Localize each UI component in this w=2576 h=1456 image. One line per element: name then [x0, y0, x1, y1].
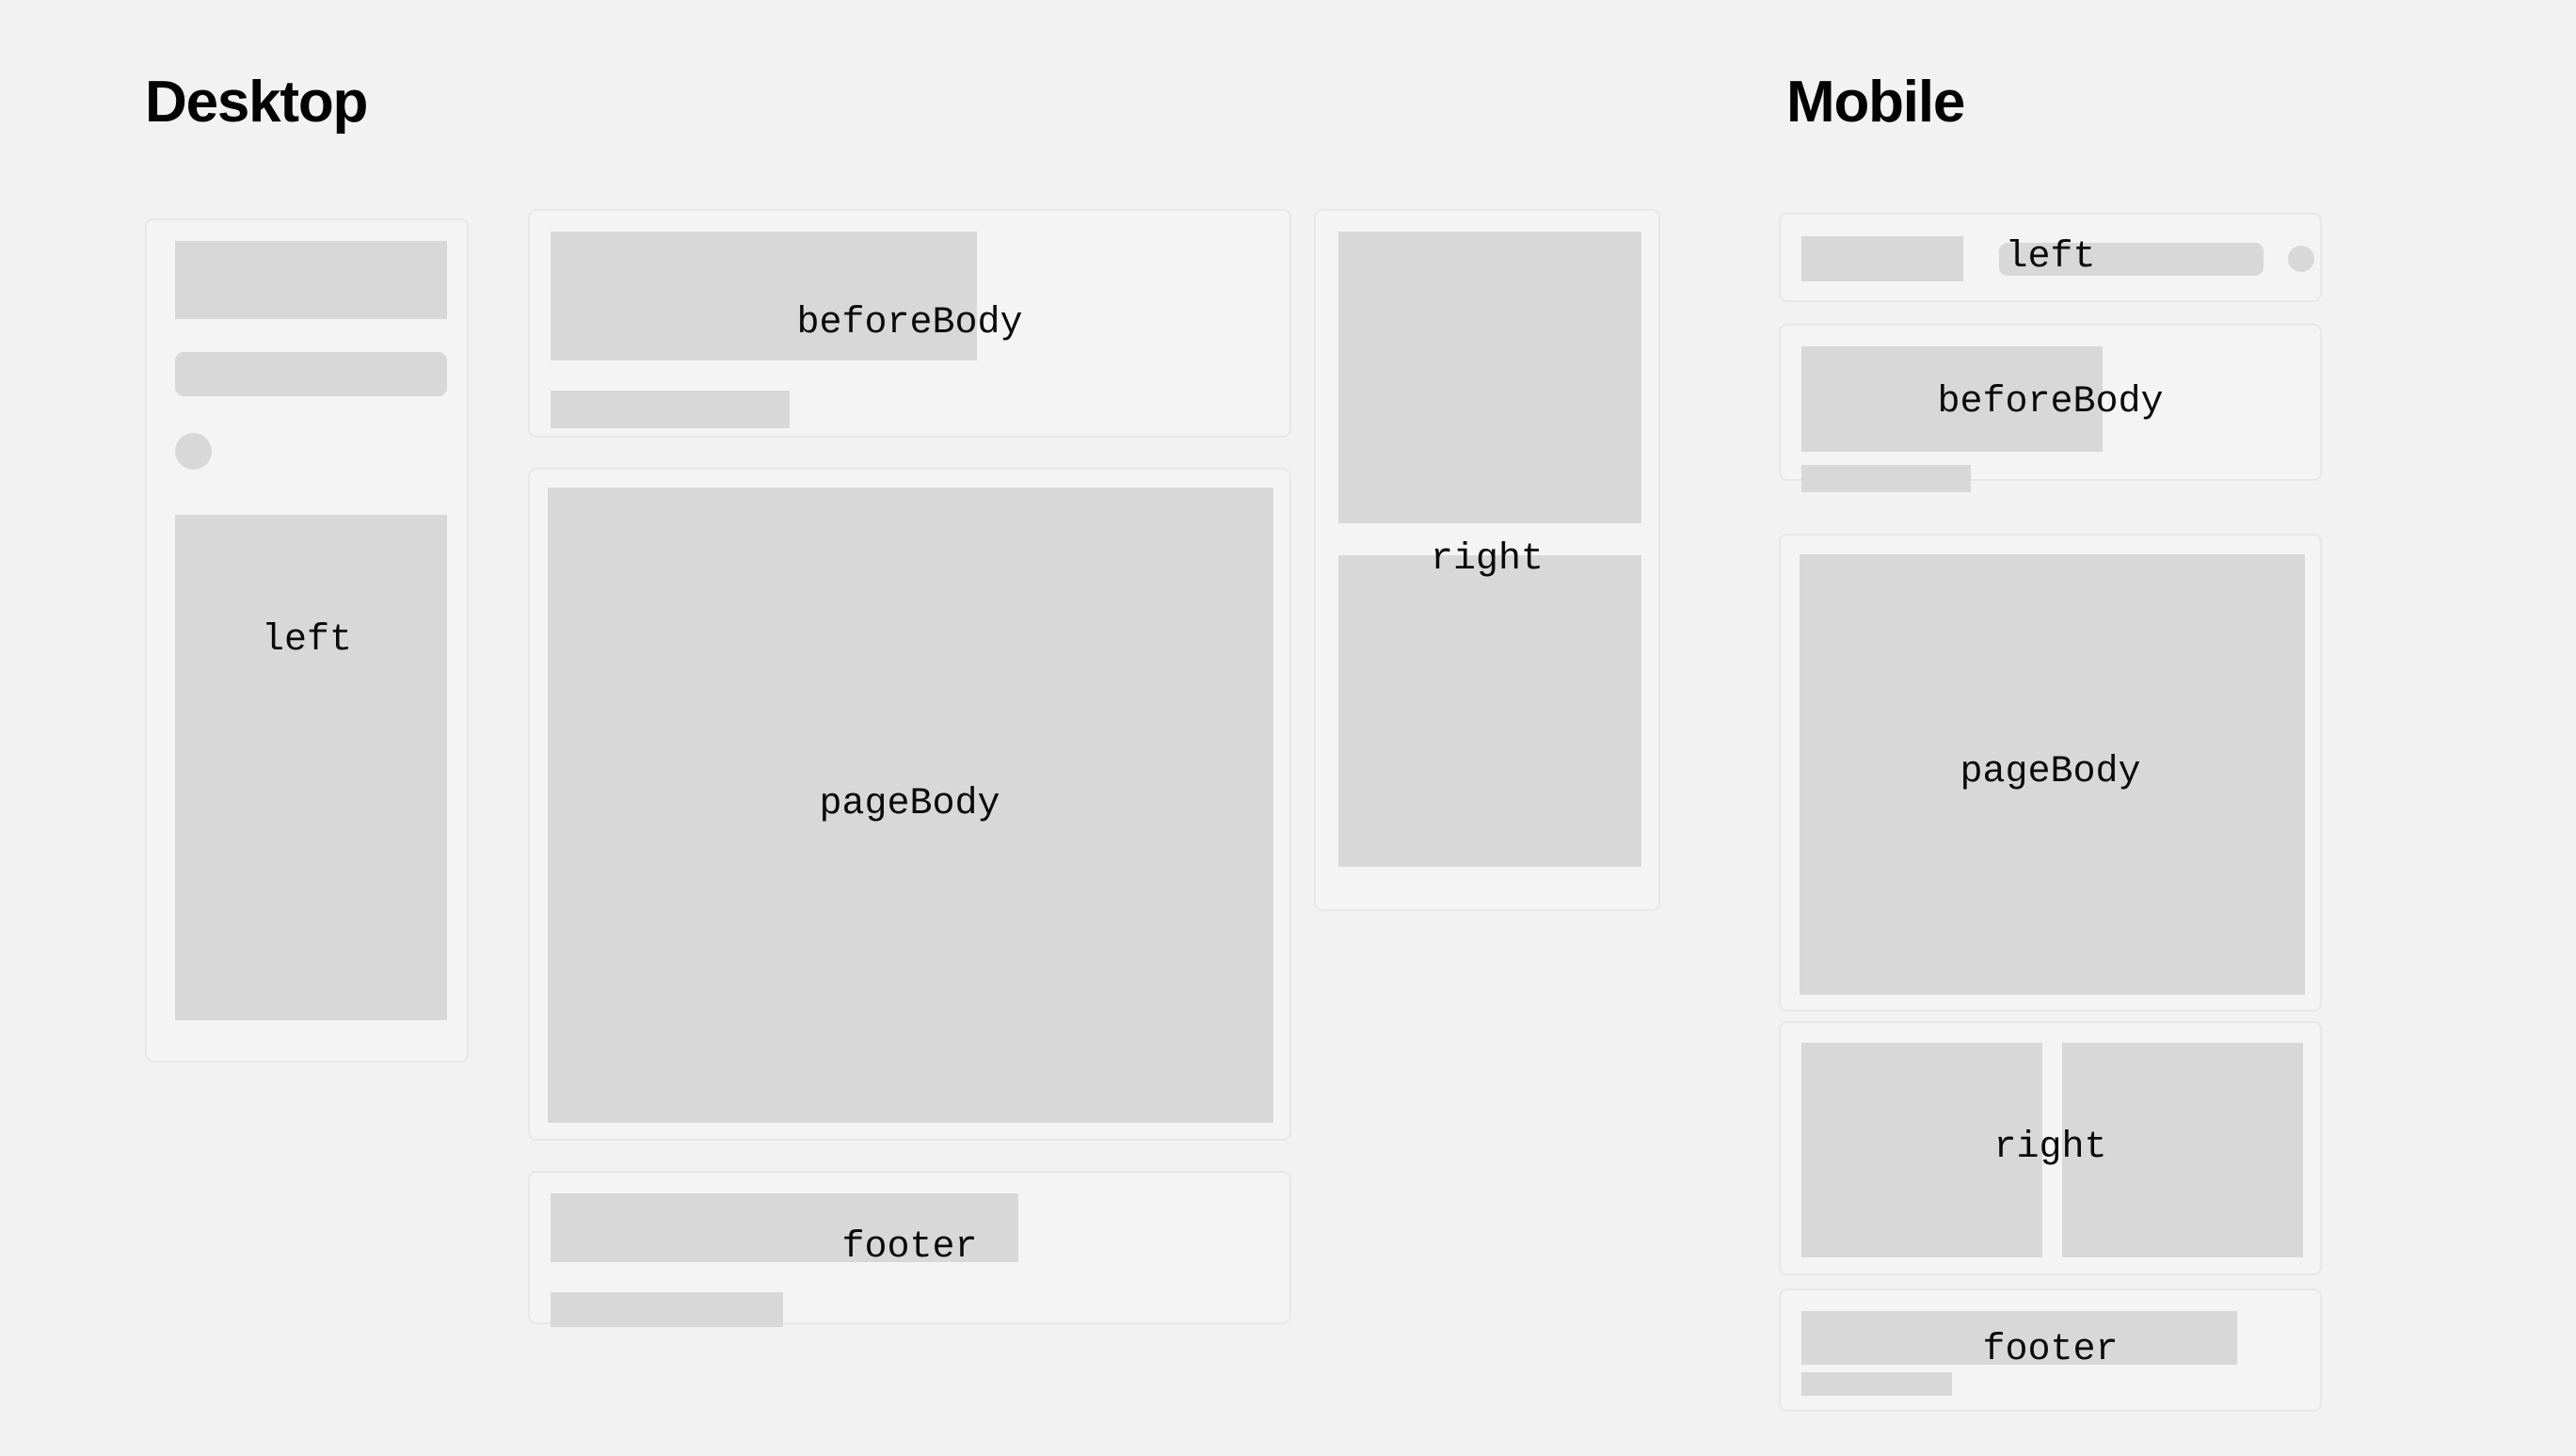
- skeleton-dot-block: [175, 433, 212, 470]
- skeleton-top-block: [1338, 232, 1641, 523]
- mobile-right-slot-panel[interactable]: [1779, 1021, 2322, 1275]
- skeleton-hero-block: [551, 232, 977, 360]
- skeleton-hero-block: [175, 241, 447, 319]
- mobile-pagebody-slot-panel[interactable]: [1779, 534, 2322, 1012]
- mobile-left-slot-panel[interactable]: [1779, 213, 2322, 302]
- skeleton-bar-block: [1801, 465, 1971, 492]
- desktop-left-slot-panel[interactable]: [145, 218, 469, 1063]
- desktop-right-slot-panel[interactable]: [1314, 209, 1660, 911]
- mobile-section-heading: Mobile: [1786, 73, 1964, 132]
- skeleton-bar-block: [1801, 1372, 1952, 1396]
- skeleton-main-block: [548, 488, 1273, 1123]
- skeleton-hero-block: [1801, 346, 2103, 452]
- skeleton-hero-block: [551, 1193, 1018, 1262]
- mobile-beforebody-slot-panel[interactable]: [1779, 324, 2322, 481]
- skeleton-bar-block: [175, 352, 447, 396]
- layout-preview-stage: Desktop Mobile left beforeBody pageBody …: [0, 0, 2576, 1456]
- skeleton-main-block: [175, 515, 447, 1020]
- skeleton-bar-block: [551, 391, 790, 428]
- desktop-footer-slot-panel[interactable]: [528, 1171, 1291, 1324]
- skeleton-bar-block: [551, 1292, 783, 1327]
- skeleton-dot-block: [2288, 246, 2314, 272]
- desktop-section-heading: Desktop: [145, 73, 367, 132]
- skeleton-bar-block: [1999, 243, 2264, 276]
- desktop-beforebody-slot-panel[interactable]: [528, 209, 1291, 438]
- desktop-pagebody-slot-panel[interactable]: [528, 468, 1291, 1141]
- mobile-footer-slot-panel[interactable]: [1779, 1288, 2322, 1412]
- skeleton-right-block: [2062, 1043, 2303, 1257]
- skeleton-bottom-block: [1338, 555, 1641, 867]
- skeleton-main-block: [1800, 554, 2305, 995]
- skeleton-left-block: [1801, 1043, 2042, 1257]
- skeleton-hero-block: [1801, 236, 1963, 281]
- skeleton-hero-block: [1801, 1311, 2237, 1365]
